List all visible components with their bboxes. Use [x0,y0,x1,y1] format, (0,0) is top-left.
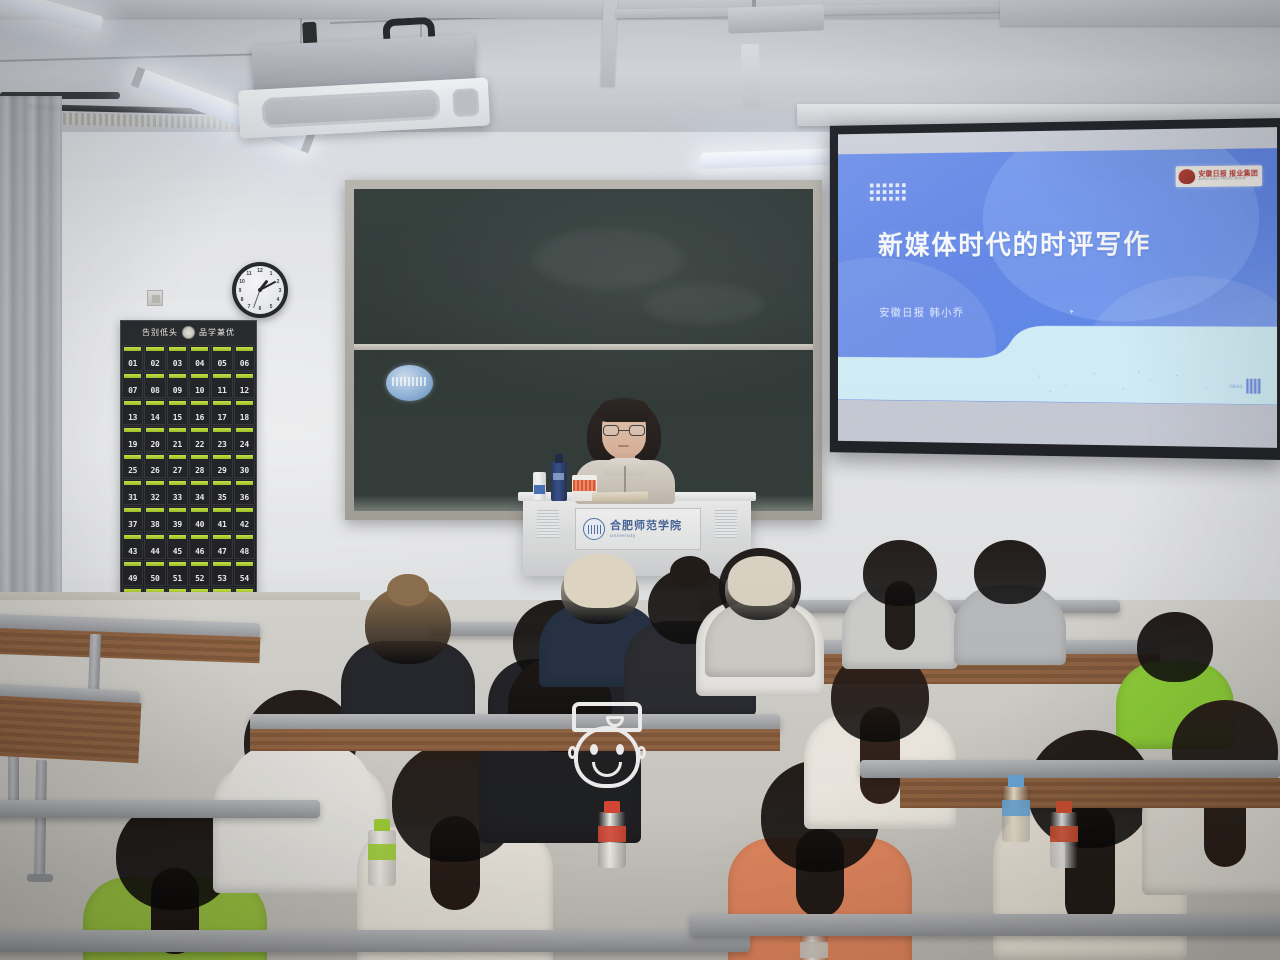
ceiling-support [601,0,618,86]
cartoon-boy-graphic-icon [566,700,648,796]
pocket-number: 26 [150,466,159,475]
screen-surface: 安徽日报 报业集团 ANHUI DAILY PRESS GROUP 新媒体时代的… [838,127,1277,448]
presenter-mouth [618,445,629,447]
pocket-number: 31 [128,493,137,502]
pocket-cell: 38 [144,506,165,532]
pocket-number: 18 [240,413,249,422]
bottle-label-band [1002,800,1030,816]
pocket-number: 46 [195,547,204,556]
pocket-number: 38 [150,520,159,529]
pocket-cell: 43 [122,533,143,559]
pocket-cell: 07 [122,372,143,398]
pocket-cell: 17 [211,399,232,425]
lectern-vent-right [715,510,737,538]
presenter-fringe [598,400,650,422]
glasses-lens-right [629,425,645,436]
red-band-bottle [598,812,626,868]
pocket-cell: 08 [144,372,165,398]
bench-row-1r [690,914,1280,936]
logo-name-en: ANHUI DAILY PRESS GROUP [1198,177,1258,181]
pocket-cell: 53 [211,560,232,586]
pocket-number: 37 [128,520,137,529]
pocket-number: 08 [150,386,159,395]
pocket-number: 39 [173,520,182,529]
bench-row-2l [0,800,320,818]
pocket-cell: 16 [189,399,210,425]
logo-seal-icon [1179,169,1196,184]
pocket-cell: 26 [144,453,165,479]
pocket-number: 34 [195,493,204,502]
pocket-number: 11 [217,386,226,395]
ac-vent-small [452,88,479,117]
blue-oval-sticker [386,365,433,401]
bottle-cap [374,819,390,831]
pocket-cell: 46 [189,533,210,559]
pocket-number: 02 [150,359,159,368]
window-curtain [0,96,62,611]
ceiling-speaker [741,44,761,109]
glasses-lens-left [603,425,619,436]
pocket-number: 14 [150,413,159,422]
pocket-cell: 47 [211,533,232,559]
clock-numeral: 12 [256,268,264,274]
pocket-cell: 34 [189,479,210,505]
pocket-chart-header-left: 告别低头 [142,327,178,338]
pocket-cell: 30 [234,453,255,479]
clock-numeral: 11 [245,271,253,277]
clock-numeral: 10 [238,279,246,285]
pocket-number: 54 [240,574,249,583]
pocket-number: 42 [240,520,249,529]
pocket-cell: 06 [234,345,255,371]
pocket-cell: 03 [167,345,188,371]
pocket-grid: 0102030405060708091011121314151617181920… [121,344,256,614]
pocket-number: 01 [128,359,137,368]
pocket-cell: 33 [167,479,188,505]
bottle-cap [604,801,620,813]
ceiling-projector[interactable] [728,4,825,33]
desk-foot [27,874,53,882]
blue-cap-bottle [1002,786,1030,842]
pocket-cell: 49 [122,560,143,586]
green-band-bottle [368,830,396,886]
pocket-number: 41 [217,520,226,529]
pocket-cell: 12 [234,372,255,398]
clock-numeral: 9 [236,288,244,294]
clock-face: 12 1 2 3 4 5 6 7 8 9 10 11 [236,266,284,314]
logo-text: 安徽日报 报业集团 ANHUI DAILY PRESS GROUP [1198,170,1258,181]
cartoon-head [574,726,640,788]
pocket-cell: 29 [211,453,232,479]
audience-cap [728,556,792,605]
pocket-cell: 42 [234,506,255,532]
clock-numeral: 5 [267,304,275,310]
pocket-number: 47 [217,547,226,556]
bench-row-1 [0,930,750,952]
pocket-cell: 41 [211,506,232,532]
pocket-cell: 40 [189,506,210,532]
clock-numeral: 3 [276,288,284,294]
qr-code-icon [1246,379,1261,394]
institution-name-en: University [610,533,682,538]
ceiling-beam [1000,0,1280,26]
pocket-number: 16 [195,413,204,422]
pocket-cell: 04 [189,345,210,371]
pocket-cell: 20 [144,426,165,452]
desk-surface-row-3 [250,729,780,751]
pocket-cell: 35 [211,479,232,505]
audience-head [863,540,937,606]
pocket-cell: 05 [211,345,232,371]
pocket-chart-header: 告别低头 品学兼优 [121,321,256,344]
pocket-cell: 09 [167,372,188,398]
bench-row-2r [860,760,1280,778]
audience-hair-bun [387,574,428,607]
audience-member [725,560,795,710]
bottle-label-band [1050,826,1078,842]
bottle-cap [1008,775,1024,787]
pocket-cell: 19 [122,426,143,452]
lecture-hall-photo: 12 1 2 3 4 5 6 7 8 9 10 11 告别低头 品学兼优 010… [0,0,1280,960]
pocket-cell: 23 [211,426,232,452]
audience-head [1137,612,1213,682]
pocket-number: 22 [195,440,204,449]
clock-numeral: 6 [256,306,264,312]
pocket-cell: 15 [167,399,188,425]
audience-head [974,540,1046,604]
pocket-number: 32 [150,493,159,502]
pocket-number: 45 [173,547,182,556]
pocket-cell: 13 [122,399,143,425]
pocket-cell: 11 [211,372,232,398]
university-crest-icon [583,518,605,540]
dot-grid-decor [870,183,906,201]
phone-pocket-chart: 告别低头 品学兼优 010203040506070809101112131415… [120,320,257,615]
pocket-cell: 52 [189,560,210,586]
pocket-cell: 14 [144,399,165,425]
audience-cap [564,554,636,608]
pocket-cell: 22 [189,426,210,452]
pocket-cell: 27 [167,453,188,479]
clock-numeral: 4 [274,297,282,303]
presentation-slide: 安徽日报 报业集团 ANHUI DAILY PRESS GROUP 新媒体时代的… [838,148,1277,405]
blue-thermos [551,462,567,501]
pocket-cell: 24 [234,426,255,452]
chalk-smudge [534,229,684,289]
pocket-number: 48 [240,547,249,556]
lectern-vent-left [537,510,559,538]
pocket-number: 04 [195,359,204,368]
bottle-label-band [800,942,828,958]
pocket-number: 05 [217,359,226,368]
pocket-number: 03 [173,359,182,368]
pocket-number: 19 [128,440,137,449]
pocket-number: 13 [128,413,137,422]
pocket-number: 07 [128,386,137,395]
pocket-number: 36 [240,493,249,502]
slide-title: 新媒体时代的时评写作 [878,223,1151,262]
pocket-cell: 37 [122,506,143,532]
cartoon-eye-right [616,744,624,755]
pocket-cell: 01 [122,345,143,371]
pocket-number: 53 [217,574,226,583]
clock-numeral: 1 [267,271,275,277]
presenter-glasses-icon [603,425,645,436]
pocket-number: 33 [173,493,182,502]
pocket-cell: 54 [234,560,255,586]
pocket-number: 35 [217,493,226,502]
pocket-cell: 25 [122,453,143,479]
wall-switch-plate[interactable] [147,290,163,306]
qr-caption: 扫码关注 [1229,385,1242,390]
pocket-cell: 51 [167,560,188,586]
bottle-cap [1056,801,1072,813]
slide-speck-decor [1018,367,1241,399]
pocket-cell: 10 [189,372,210,398]
pocket-cell: 32 [144,479,165,505]
pocket-number: 09 [173,386,182,395]
projection-screen[interactable]: 安徽日报 报业集团 ANHUI DAILY PRESS GROUP 新媒体时代的… [830,118,1280,460]
pocket-number: 24 [240,440,249,449]
cartoon-ear-right [637,746,646,759]
pocket-number: 21 [173,440,182,449]
audience-member [974,540,1046,694]
pocket-number: 25 [128,466,137,475]
pocket-number: 30 [240,466,249,475]
clock-numeral: 7 [245,304,253,310]
pocket-chart-header-right: 品学兼优 [199,327,235,338]
pocket-number: 12 [240,386,249,395]
pocket-number: 52 [195,574,204,583]
lectern-name-plate: 合肥师范学院 University [575,508,701,550]
pocket-number: 51 [173,574,182,583]
lectern-name-text: 合肥师范学院 University [610,520,682,538]
anhui-daily-logo: 安徽日报 报业集团 ANHUI DAILY PRESS GROUP [1176,165,1262,187]
pocket-number: 50 [150,574,159,583]
pocket-number: 29 [217,466,226,475]
pocket-number: 43 [128,547,137,556]
school-seal-icon [182,326,195,339]
pocket-cell: 02 [144,345,165,371]
pocket-number: 20 [150,440,159,449]
pocket-number: 44 [150,547,159,556]
pocket-cell: 48 [234,533,255,559]
pocket-cell: 44 [144,533,165,559]
pocket-number: 40 [195,520,204,529]
audience-hood [228,744,371,808]
wall-clock: 12 1 2 3 4 5 6 7 8 9 10 11 [232,262,288,318]
pocket-number: 15 [173,413,182,422]
audience-hair-bun [670,556,710,588]
cartoon-eye-left [590,744,598,755]
blackboard-divider-rail [354,344,813,350]
pocket-cell: 18 [234,399,255,425]
bottle-label-band [368,844,396,860]
pocket-cell: 21 [167,426,188,452]
white-water-bottle [533,472,546,500]
paper-stack [592,492,648,502]
glasses-bridge [619,430,629,431]
clock-numeral: 8 [238,297,246,303]
desk-surface-row-2 [900,778,1280,808]
audience-member [863,540,937,696]
pocket-number: 49 [128,574,137,583]
pocket-number: 06 [240,359,249,368]
cartoon-ear-left [568,746,577,759]
pocket-number: 10 [195,386,204,395]
pocket-number: 23 [217,440,226,449]
pocket-cell: 39 [167,506,188,532]
pocket-number: 28 [195,466,204,475]
pocket-cell: 31 [122,479,143,505]
clock-center-pin [258,288,262,292]
pocket-cell: 45 [167,533,188,559]
steel-thermos [1050,812,1078,868]
pocket-number: 27 [173,466,182,475]
ac-vent [261,89,440,128]
chalk-smudge [644,284,764,324]
desk-leg [34,760,47,880]
pocket-cell: 36 [234,479,255,505]
institution-name-cn: 合肥师范学院 [610,520,682,533]
seat-back [0,693,141,763]
pocket-cell: 50 [144,560,165,586]
pocket-cell: 28 [189,453,210,479]
pocket-number: 17 [217,413,226,422]
bottle-label-band [598,826,626,842]
